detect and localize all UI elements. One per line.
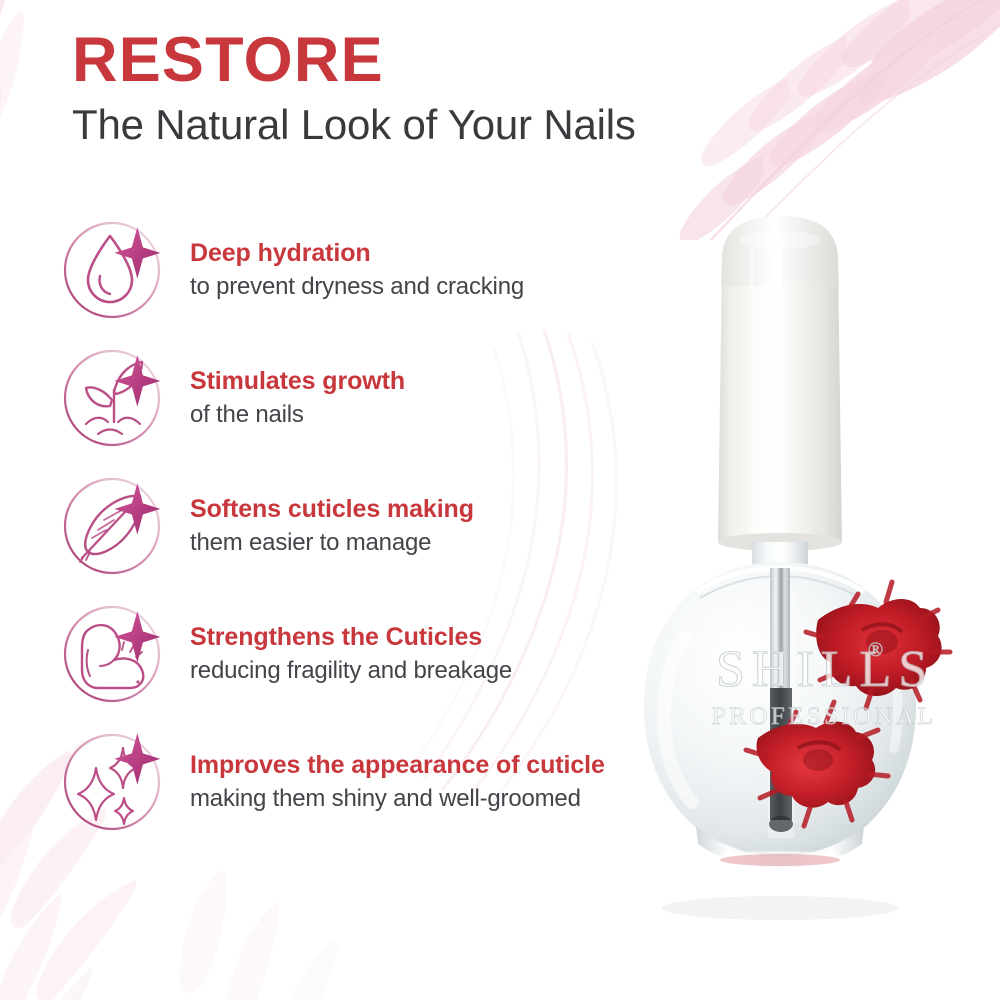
bottle-cap — [718, 216, 842, 551]
feather-icon — [52, 466, 172, 586]
feature-title: Softens cuticles making — [190, 494, 474, 525]
page-subtitle: The Natural Look of Your Nails — [72, 102, 636, 148]
feature-subtitle: to prevent dryness and cracking — [190, 271, 524, 302]
page-title: RESTORE — [72, 28, 636, 94]
feature-item-deep-hydration: Deep hydration to prevent dryness and cr… — [52, 206, 672, 334]
feature-text: Softens cuticles making them easier to m… — [190, 494, 474, 558]
trademark-symbol: ® — [868, 639, 883, 661]
foliage-decoration-bottom-middle — [180, 830, 440, 1000]
brand-name: SHILLS — [716, 641, 934, 698]
feature-subtitle: of the nails — [190, 399, 405, 430]
feature-list: Deep hydration to prevent dryness and cr… — [52, 206, 672, 846]
feature-title: Improves the appearance of cuticle — [190, 750, 605, 781]
feature-subtitle: making them shiny and well-groomed — [190, 783, 605, 814]
feature-text: Deep hydration to prevent dryness and cr… — [190, 238, 524, 302]
water-drop-icon — [52, 210, 172, 330]
feature-subtitle: them easier to manage — [190, 527, 474, 558]
feature-text: Improves the appearance of cuticle makin… — [190, 750, 605, 814]
header: RESTORE The Natural Look of Your Nails — [72, 28, 636, 148]
feature-title: Strengthens the Cuticles — [190, 622, 512, 653]
brand-logo: SHILLS ® PROFESSIONAL — [712, 639, 936, 730]
sparkles-icon — [52, 722, 172, 842]
feature-text: Strengthens the Cuticles reducing fragil… — [190, 622, 512, 686]
feature-subtitle: reducing fragility and breakage — [190, 655, 512, 686]
feature-title: Stimulates growth — [190, 366, 405, 397]
feature-item-stimulates-growth: Stimulates growth of the nails — [52, 334, 672, 462]
flexed-bicep-icon — [52, 594, 172, 714]
feature-title: Deep hydration — [190, 238, 524, 269]
sprout-icon — [52, 338, 172, 458]
bottle-shadow — [662, 896, 898, 920]
feature-item-improves-appearance: Improves the appearance of cuticle makin… — [52, 718, 672, 846]
brand-subtitle: PROFESSIONAL — [712, 703, 936, 730]
feature-text: Stimulates growth of the nails — [190, 366, 405, 430]
feature-item-strengthens-cuticles: Strengthens the Cuticles reducing fragil… — [52, 590, 672, 718]
feature-item-softens-cuticles: Softens cuticles making them easier to m… — [52, 462, 672, 590]
